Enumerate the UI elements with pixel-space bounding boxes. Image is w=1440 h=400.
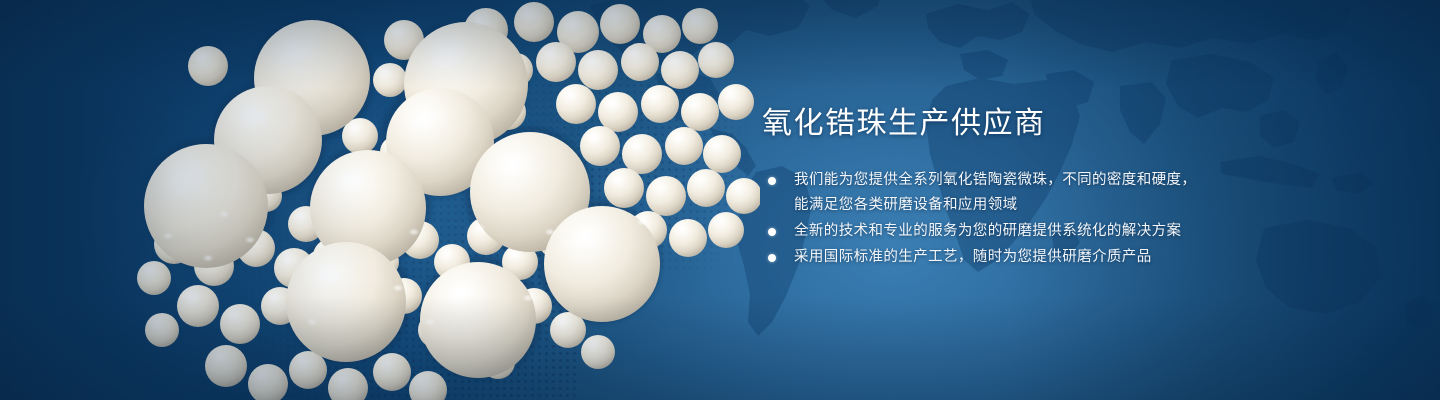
bullet-dot-icon: [768, 228, 776, 236]
feature-item-3-line1: 采用国际标准的生产工艺，随时为您提供研磨介质产品: [794, 249, 1152, 265]
banner-copy: 氧化锆珠生产供应商 我们能为您提供全系列氧化锆陶瓷微珠，不同的密度和硬度， 能满…: [762, 104, 1232, 271]
feature-item-1: 我们能为您提供全系列氧化锆陶瓷微珠，不同的密度和硬度， 能满足您各类研磨设备和应…: [762, 168, 1232, 218]
feature-item-3: 采用国际标准的生产工艺，随时为您提供研磨介质产品: [762, 245, 1232, 270]
bullet-dot-icon: [768, 177, 776, 185]
feature-item-2-line1: 全新的技术和专业的服务为您的研磨提供系统化的解决方案: [794, 223, 1181, 239]
hero-banner: 氧化锆珠生产供应商 我们能为您提供全系列氧化锆陶瓷微珠，不同的密度和硬度， 能满…: [0, 0, 1440, 400]
feature-item-2: 全新的技术和专业的服务为您的研磨提供系统化的解决方案: [762, 219, 1232, 244]
banner-feature-list: 我们能为您提供全系列氧化锆陶瓷微珠，不同的密度和硬度， 能满足您各类研磨设备和应…: [762, 168, 1232, 270]
feature-item-1-line2: 能满足您各类研磨设备和应用领域: [794, 193, 1232, 218]
feature-item-1-line1: 我们能为您提供全系列氧化锆陶瓷微珠，不同的密度和硬度，: [794, 172, 1196, 188]
banner-headline: 氧化锆珠生产供应商: [762, 104, 1232, 144]
bullet-dot-icon: [768, 254, 776, 262]
